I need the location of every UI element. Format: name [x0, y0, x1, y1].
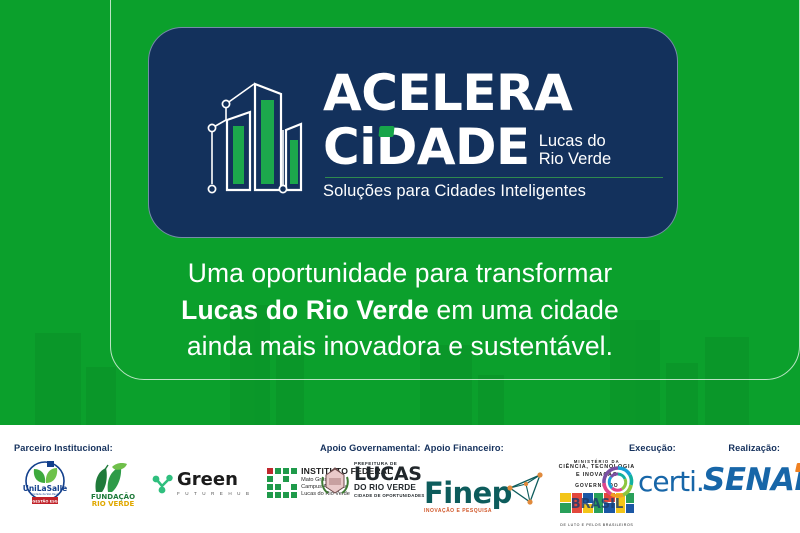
- senai-orange-accent-icon: [796, 463, 800, 472]
- logo-divider: [325, 177, 663, 178]
- city-line-1: Lucas do: [539, 132, 606, 150]
- logo-line-cidade: CiDADE: [323, 124, 530, 172]
- logo-line-acelera: ACELERA: [323, 64, 663, 122]
- unilasalle-logo: UniLaSalle Unidade de São Paulo GESTÃO E…: [14, 460, 76, 506]
- senai-name: SENAI: [703, 465, 800, 496]
- instituto-federal-grid-icon: [267, 468, 297, 498]
- tagline-line-2: Lucas do Rio Verde em uma cidade: [0, 292, 800, 329]
- svg-text:GESTÃO ESG: GESTÃO ESG: [32, 498, 57, 503]
- hero-tagline: Uma oportunidade para transformar Lucas …: [0, 255, 800, 365]
- tagline-highlight: Lucas do Rio Verde: [181, 295, 429, 325]
- senai-logo: SENAI: [703, 465, 800, 496]
- prefeitura-coat-of-arms-icon: [320, 463, 350, 497]
- smart-city-buildings-icon: [197, 68, 315, 198]
- fundacao-rio-verde-logo: FUNDAÇÃO RIO VERDE: [84, 459, 142, 507]
- footer-label-apoio-governamental: Apoio Governamental:: [320, 443, 425, 453]
- prefeitura-big-text: LUCAS: [354, 466, 425, 483]
- prefeitura-lucas-do-rio-verde-logo: PREFEITURA DE LUCAS DO RIO VERDE CIDADE …: [320, 461, 425, 498]
- finep-name: Finep: [424, 480, 512, 506]
- green-hub-sub: F U T U R E H U B: [177, 491, 251, 496]
- logo-card: ACELERA CiDADE Lucas do Rio Verde Soluçõ…: [148, 27, 678, 238]
- footer-sponsors: Parceiro Institucional: UniLaSalle Unida…: [0, 425, 800, 533]
- certi-ring-icon: [601, 465, 635, 499]
- svg-text:BRASIL: BRASIL: [571, 497, 623, 512]
- footer-group-apoio-governamental: Apoio Governamental: PREFEITURA DE LUCAS…: [320, 443, 425, 498]
- footer-label-realizacao: Realização:: [703, 443, 800, 453]
- footer-group-execucao: Execução:: [601, 443, 704, 499]
- tagline-line-1: Uma oportunidade para transformar: [0, 255, 800, 292]
- green-future-hub-logo: Green F U T U R E H U B: [152, 471, 251, 496]
- footer-label-execucao: Execução:: [601, 443, 704, 453]
- green-hub-name: Green: [177, 471, 251, 489]
- footer-group-realizacao: Realização: SENAI: [703, 443, 800, 496]
- logo-wordmark: ACELERA CiDADE Lucas do Rio Verde Soluçõ…: [323, 64, 679, 201]
- finep-pyramid-icon: [506, 472, 544, 508]
- tagline-line-3: ainda mais inovadora e sustentável.: [0, 328, 800, 365]
- logo-city-name: Lucas do Rio Verde: [539, 133, 611, 172]
- green-i-accent-icon: [378, 126, 394, 137]
- poster-canvas: ACELERA CiDADE Lucas do Rio Verde Soluçõ…: [0, 0, 800, 533]
- city-line-2: Rio Verde: [539, 150, 611, 168]
- ministerio-line-6: DE LUTO E PELOS BRASILEIROS: [558, 523, 636, 527]
- hero-section: ACELERA CiDADE Lucas do Rio Verde Soluçõ…: [0, 0, 800, 425]
- svg-text:Unidade de São Paulo: Unidade de São Paulo: [31, 492, 60, 496]
- logo-slogan: Soluções para Cidades Inteligentes: [323, 182, 663, 201]
- tagline-line-2-rest: em uma cidade: [429, 295, 619, 325]
- logo-cidade-text: CiDADE: [323, 118, 530, 176]
- prefeitura-mid-text: DO RIO VERDE: [354, 483, 425, 492]
- prefeitura-bottom-text: CIDADE DE OPORTUNIDADES: [354, 493, 425, 498]
- svg-text:UniLaSalle: UniLaSalle: [23, 484, 68, 493]
- certi-name: certi.: [638, 468, 704, 496]
- certi-logo: certi.: [601, 465, 704, 499]
- green-hub-mark-icon: [152, 472, 174, 494]
- finep-logo: Finep INOVAÇÃO E PESQUISA: [424, 472, 544, 514]
- svg-text:RIO VERDE: RIO VERDE: [92, 500, 135, 507]
